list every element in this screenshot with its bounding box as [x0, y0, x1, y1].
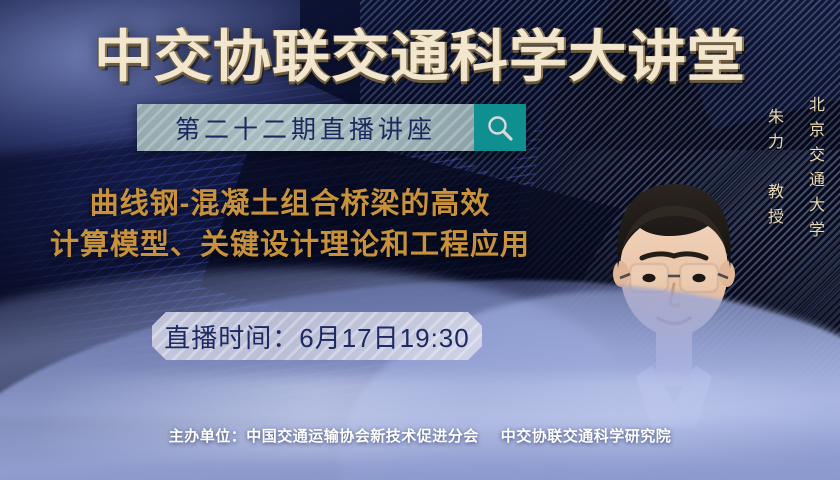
footer-organizer-2: 中交协联交通科学研究院 — [501, 428, 672, 445]
broadcast-time-text: 直播时间：6月17日19:30 — [164, 318, 469, 355]
session-bar[interactable]: 第二十二期直播讲座 — [137, 104, 526, 151]
speaker-name-title: 朱力 教授 — [761, 108, 785, 233]
page-title: 中交协联交通科学大讲堂 — [0, 12, 840, 93]
footer-organizer-label: 主办单位： — [169, 428, 247, 445]
lecture-topic: 曲线钢-混凝土组合桥梁的高效 计算模型、关键设计理论和工程应用 — [0, 184, 580, 266]
topic-line-1: 曲线钢-混凝土组合桥梁的高效 — [0, 184, 580, 225]
footer-organizers: 主办单位：中国交通运输协会新技术促进分会中交协联交通科学研究院 — [0, 425, 840, 446]
session-bar-background: 第二十二期直播讲座 — [137, 104, 474, 151]
search-icon[interactable] — [474, 104, 526, 151]
live-lecture-poster: 中交协联交通科学大讲堂 第二十二期直播讲座 曲线钢-混凝土组合桥梁的高效 计算模… — [0, 0, 840, 480]
footer-organizer-1: 中国交通运输协会新技术促进分会 — [246, 428, 479, 445]
session-label: 第二十二期直播讲座 — [175, 110, 436, 146]
speaker-organization: 北京交通大学 — [802, 96, 826, 246]
topic-line-2: 计算模型、关键设计理论和工程应用 — [0, 225, 580, 266]
broadcast-time-badge: 直播时间：6月17日19:30 — [152, 312, 482, 360]
